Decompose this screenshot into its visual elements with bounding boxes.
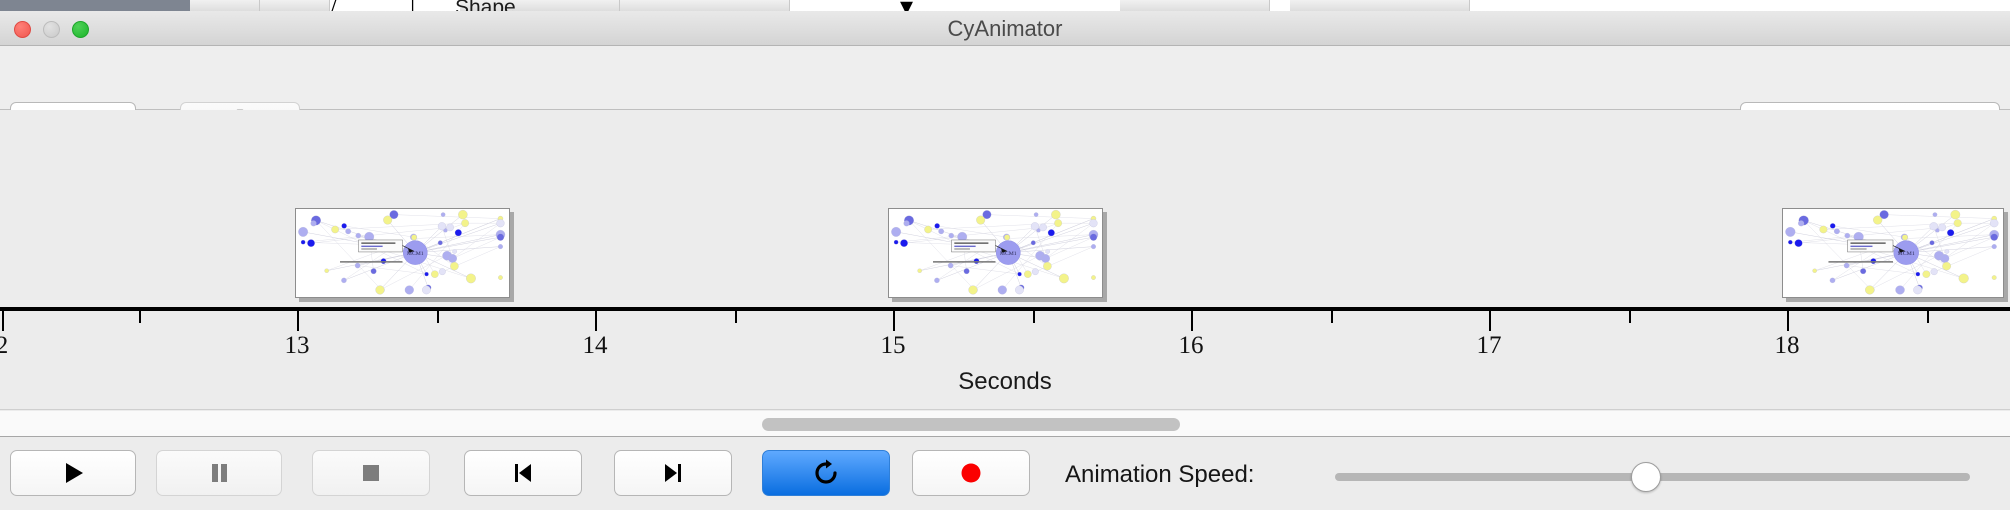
axis-tick-major: [2, 311, 4, 331]
axis-tick-minor: [1331, 311, 1333, 323]
axis-tick-label: 14: [583, 332, 608, 360]
record-button[interactable]: [912, 450, 1030, 496]
play-button[interactable]: [10, 450, 136, 496]
animation-speed-slider[interactable]: [1335, 473, 1970, 481]
keyframe-thumbnail[interactable]: MCM1: [295, 208, 510, 298]
pause-button[interactable]: [156, 450, 282, 496]
axis-tick-label: 17: [1477, 332, 1502, 360]
axis-tick-label: 13: [285, 332, 310, 360]
skip-first-button[interactable]: [464, 450, 582, 496]
axis-tick-minor: [1033, 311, 1035, 323]
stop-icon: [358, 460, 384, 486]
skip-last-button[interactable]: [614, 450, 732, 496]
axis-tick-label: 18: [1775, 332, 1800, 360]
loop-icon: [811, 458, 841, 488]
axis-tick-minor: [1927, 311, 1929, 323]
timeline-axis-title: Seconds: [0, 368, 2010, 396]
keyframe-thumbnail[interactable]: MCM1: [888, 208, 1103, 298]
axis-tick-major: [1191, 311, 1193, 331]
axis-tick-major: [893, 311, 895, 331]
frame-toolbar: Clear All Frames: [0, 46, 2010, 110]
keyframe-thumbnail[interactable]: MCM1: [1782, 208, 2004, 298]
axis-tick-label: 15: [881, 332, 906, 360]
axis-tick-major: [297, 311, 299, 331]
axis-tick-major: [1787, 311, 1789, 331]
axis-tick-major: [1489, 311, 1491, 331]
timeline-scrollbar-thumb[interactable]: [762, 418, 1180, 431]
skip-back-icon: [510, 460, 536, 486]
record-dot-icon: [958, 460, 984, 486]
play-icon: [60, 460, 86, 486]
timeline-axis-line: [0, 307, 2010, 311]
axis-tick-label: 2: [0, 332, 8, 360]
playback-control-bar: Animation Speed:: [0, 438, 2010, 510]
window-title: CyAnimator: [0, 11, 2010, 46]
animation-speed-label: Animation Speed:: [1065, 461, 1254, 489]
pause-icon: [206, 460, 232, 486]
axis-tick-minor: [139, 311, 141, 323]
axis-tick-label: 16: [1179, 332, 1204, 360]
loop-toggle-button[interactable]: [762, 450, 890, 496]
axis-tick-minor: [1629, 311, 1631, 323]
slider-thumb[interactable]: [1631, 462, 1661, 492]
axis-tick-minor: [735, 311, 737, 323]
timeline-scrollbar[interactable]: [0, 411, 2010, 437]
background-window-dark-bar: [0, 0, 190, 11]
stop-button[interactable]: [312, 450, 430, 496]
axis-tick-major: [595, 311, 597, 331]
skip-forward-icon: [660, 460, 686, 486]
axis-tick-minor: [437, 311, 439, 323]
window-titlebar: CyAnimator: [0, 11, 2010, 46]
timeline-panel[interactable]: MCM1 MCM1 MCM1 2131415161718 Seconds: [0, 110, 2010, 410]
